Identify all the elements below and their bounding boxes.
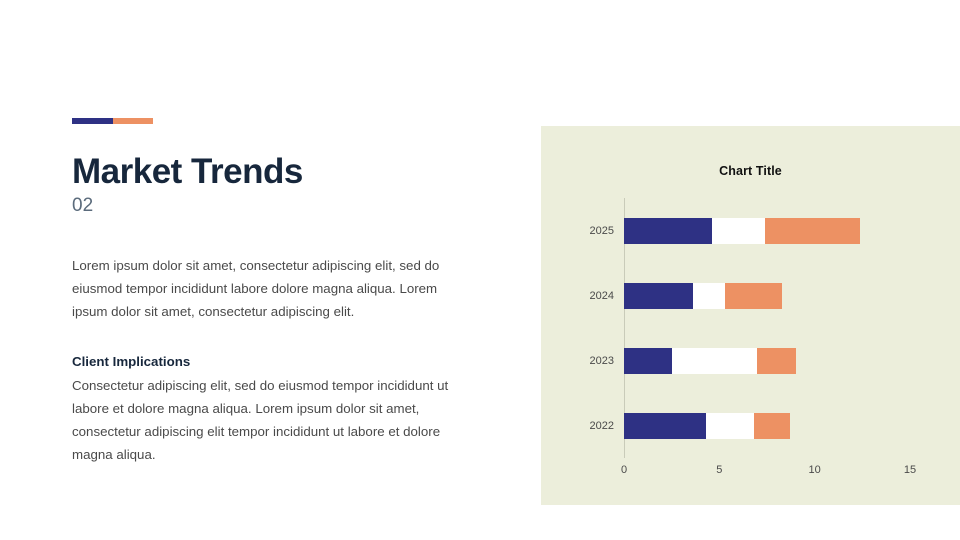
bar-segment-series-3 bbox=[757, 348, 795, 374]
accent-bar-navy-segment bbox=[72, 118, 113, 124]
accent-bar-orange-segment bbox=[113, 118, 154, 124]
page-number: 02 bbox=[72, 195, 472, 218]
bar-segment-series-3 bbox=[725, 283, 782, 309]
page-title: Market Trends bbox=[72, 154, 472, 191]
bar-segment-series-1 bbox=[624, 413, 706, 439]
x-tick-label: 15 bbox=[904, 464, 916, 476]
category-axis-label: 2024 bbox=[590, 290, 614, 302]
bar-segment-series-1 bbox=[624, 218, 712, 244]
chart-panel: Chart Title 2025202420232022 051015 bbox=[541, 126, 960, 505]
bar-segment-series-2 bbox=[672, 348, 758, 374]
client-implications-paragraph: Consectetur adipiscing elit, sed do eius… bbox=[72, 374, 464, 467]
bar-segment-series-2 bbox=[693, 283, 725, 309]
client-implications-block: Client Implications Consectetur adipisci… bbox=[72, 351, 464, 466]
bar-segment-series-1 bbox=[624, 348, 672, 374]
bar-row: 2024 bbox=[624, 283, 782, 309]
bar-row: 2023 bbox=[624, 348, 796, 374]
bar-row: 2022 bbox=[624, 413, 790, 439]
x-tick-label: 10 bbox=[809, 464, 821, 476]
category-axis-label: 2022 bbox=[590, 420, 614, 432]
x-tick-label: 5 bbox=[716, 464, 722, 476]
bar-segment-series-3 bbox=[765, 218, 860, 244]
bar-row: 2025 bbox=[624, 218, 860, 244]
accent-bar bbox=[72, 118, 153, 124]
left-text-column: Market Trends 02 Lorem ipsum dolor sit a… bbox=[72, 118, 472, 467]
category-axis-label: 2023 bbox=[590, 355, 614, 367]
bar-segment-series-2 bbox=[712, 218, 765, 244]
slide-canvas: Market Trends 02 Lorem ipsum dolor sit a… bbox=[0, 0, 960, 540]
category-axis-label: 2025 bbox=[590, 225, 614, 237]
chart-title: Chart Title bbox=[541, 164, 960, 178]
intro-paragraph: Lorem ipsum dolor sit amet, consectetur … bbox=[72, 254, 464, 324]
chart-plot-area: 2025202420232022 bbox=[624, 198, 910, 458]
bar-segment-series-2 bbox=[706, 413, 754, 439]
client-implications-heading: Client Implications bbox=[72, 351, 464, 372]
x-axis-tick-labels: 051015 bbox=[624, 464, 910, 484]
bar-segment-series-1 bbox=[624, 283, 693, 309]
bar-segment-series-3 bbox=[754, 413, 790, 439]
x-tick-label: 0 bbox=[621, 464, 627, 476]
